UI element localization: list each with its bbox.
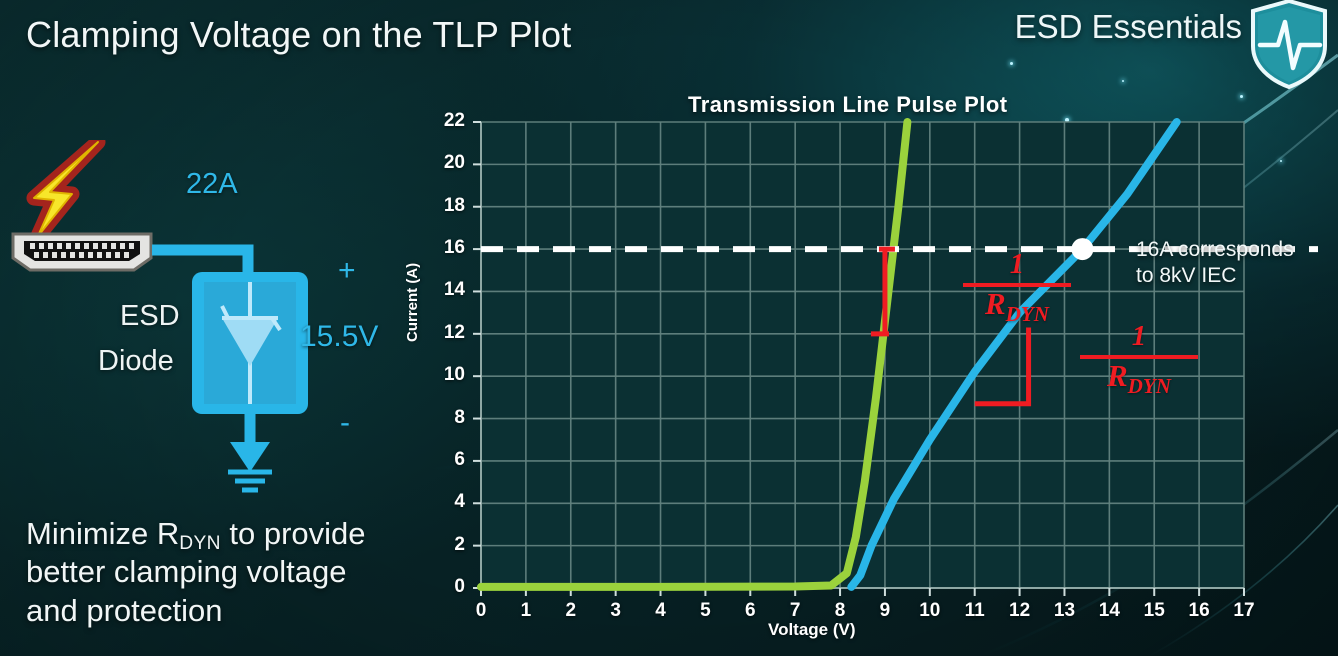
y-tick-label: 20	[425, 152, 465, 174]
slide-canvas: Clamping Voltage on the TLP Plot ESD Ess…	[0, 0, 1338, 656]
fraction-bar	[963, 283, 1071, 287]
esd-shield-heartbeat-icon	[1248, 0, 1330, 90]
brand-label: ESD Essentials	[1015, 8, 1242, 46]
current-label: 22A	[186, 168, 238, 201]
x-tick-label: 9	[865, 600, 905, 622]
y-tick-label: 2	[425, 534, 465, 556]
x-tick-label: 8	[820, 600, 860, 622]
x-tick-label: 0	[461, 600, 501, 622]
x-tick-label: 6	[730, 600, 770, 622]
caption-line3: and protection	[26, 593, 222, 628]
rdyn-numerator: 1	[1080, 322, 1198, 353]
rdyn-denominator: RDYN	[963, 288, 1071, 325]
x-tick-label: 7	[775, 600, 815, 622]
y-tick-label: 12	[425, 322, 465, 344]
x-tick-label: 10	[910, 600, 950, 622]
decorative-star	[1122, 80, 1124, 82]
esd-protection-circuit-diagram: 22A 15.5V + - ESD Diode	[0, 140, 420, 510]
page-title: Clamping Voltage on the TLP Plot	[26, 14, 571, 56]
x-tick-label: 11	[955, 600, 995, 622]
polarity-plus-label: +	[338, 256, 356, 286]
x-tick-label: 13	[1044, 600, 1084, 622]
operating-point-note: 16A corresponds to 8kV IEC	[1136, 237, 1294, 288]
x-tick-label: 4	[641, 600, 681, 622]
y-tick-label: 4	[425, 491, 465, 513]
y-tick-label: 0	[425, 576, 465, 598]
summary-caption: Minimize RDYN to provide better clamping…	[26, 515, 446, 630]
caption-line1-sub: DYN	[179, 516, 220, 551]
y-tick-label: 10	[425, 364, 465, 386]
x-tick-label: 14	[1089, 600, 1129, 622]
y-tick-label: 16	[425, 237, 465, 259]
fraction-bar	[1080, 355, 1198, 359]
y-tick-label: 14	[425, 279, 465, 301]
x-tick-label: 2	[551, 600, 591, 622]
device-label-line1: ESD	[120, 300, 180, 333]
caption-line2: better clamping voltage	[26, 554, 347, 589]
tlp-chart: Transmission Line Pulse Plot Current (A)…	[408, 92, 1318, 652]
caption-line1-a: Minimize R	[26, 516, 179, 551]
y-tick-label: 18	[425, 195, 465, 217]
y-tick-label: 6	[425, 449, 465, 471]
x-tick-label: 3	[596, 600, 636, 622]
x-tick-label: 5	[685, 600, 725, 622]
y-tick-label: 8	[425, 407, 465, 429]
device-label-line2: Diode	[98, 345, 174, 378]
note-line1: 16A corresponds	[1136, 238, 1294, 261]
decorative-star	[1010, 62, 1013, 65]
rdyn-annotation-blue: 1 RDYN	[1080, 322, 1198, 397]
x-tick-label: 15	[1134, 600, 1174, 622]
caption-line1-b: to provide	[221, 516, 366, 551]
y-tick-label: 22	[425, 110, 465, 132]
x-tick-label: 16	[1179, 600, 1219, 622]
x-tick-label: 1	[506, 600, 546, 622]
rdyn-denominator: RDYN	[1080, 360, 1198, 397]
x-tick-label: 12	[1000, 600, 1040, 622]
rdyn-annotation-green: 1 RDYN	[963, 250, 1071, 325]
x-tick-label: 17	[1224, 600, 1264, 622]
rdyn-numerator: 1	[963, 250, 1071, 281]
voltage-label: 15.5V	[300, 320, 378, 354]
polarity-minus-label: -	[340, 408, 350, 438]
note-line2: to 8kV IEC	[1136, 264, 1236, 287]
